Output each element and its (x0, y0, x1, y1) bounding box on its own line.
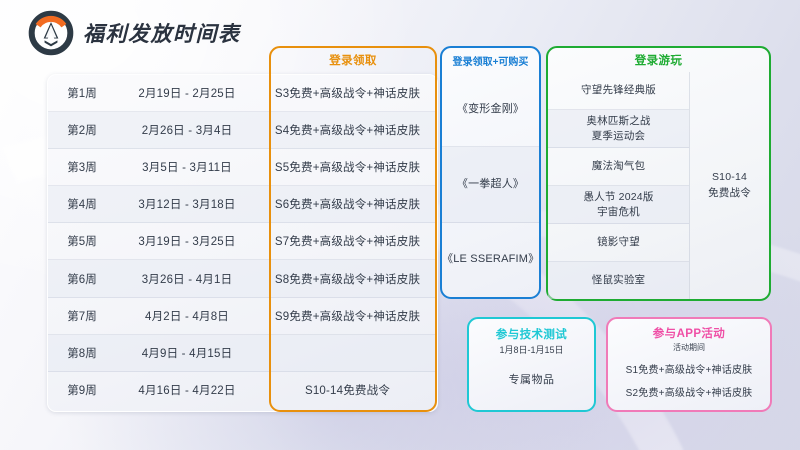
week-label: 第5周 (48, 233, 116, 249)
page-title: 福利发放时间表 (83, 18, 241, 48)
table-row: 第3周 3月5日 - 3月11日 S5免费+高级战令+神话皮肤 (48, 149, 437, 186)
app-activity-box: 参与APP活动 活动期间 S1免费+高级战令+神话皮肤 S2免费+高级战令+神话… (606, 317, 772, 412)
table-row: 第2周 2月26日 - 3月4日 S4免费+高级战令+神话皮肤 (48, 112, 437, 149)
table-row: 第1周 2月19日 - 2月25日 S3免费+高级战令+神话皮肤 (48, 75, 437, 112)
schedule-table: 第1周 2月19日 - 2月25日 S3免费+高级战令+神话皮肤 第2周 2月2… (47, 74, 438, 412)
reward-label: S3免费+高级战令+神话皮肤 (258, 85, 437, 101)
app-activity-subtitle: 活动期间 (608, 342, 770, 353)
table-row: 第9周 4月16日 - 4月22日 S10-14免费战令 (48, 372, 437, 409)
week-label: 第2周 (48, 122, 116, 138)
date-range: 2月19日 - 2月25日 (116, 85, 258, 101)
week-label: 第3周 (48, 159, 116, 175)
date-range: 4月2日 - 4月8日 (116, 308, 258, 324)
tech-test-title: 参与技术测试 (469, 326, 594, 342)
reward-label: S7免费+高级战令+神话皮肤 (258, 233, 437, 249)
tech-test-box: 参与技术测试 1月8日-1月15日 专属物品 (467, 317, 596, 412)
date-range: 4月16日 - 4月22日 (116, 382, 258, 398)
table-row: 第7周 4月2日 - 4月8日 S9免费+高级战令+神话皮肤 (48, 298, 437, 335)
reward-label: S10-14免费战令 (258, 382, 437, 398)
reward-label: S6免费+高级战令+神话皮肤 (258, 196, 437, 212)
table-row: 第4周 3月12日 - 3月18日 S6免费+高级战令+神话皮肤 (48, 186, 437, 223)
app-activity-line: S1免费+高级战令+神话皮肤 (608, 361, 770, 376)
tech-test-body: 专属物品 (469, 371, 594, 387)
week-label: 第8周 (48, 345, 116, 361)
reward-label: S5免费+高级战令+神话皮肤 (258, 159, 437, 175)
table-row: 第6周 3月26日 - 4月1日 S8免费+高级战令+神话皮肤 (48, 260, 437, 297)
app-activity-line: S2免费+高级战令+神话皮肤 (608, 384, 770, 399)
week-label: 第1周 (48, 85, 116, 101)
week-label: 第7周 (48, 308, 116, 324)
week-label: 第6周 (48, 271, 116, 287)
week-label: 第4周 (48, 196, 116, 212)
date-range: 3月12日 - 3月18日 (116, 196, 258, 212)
tech-test-subtitle: 1月8日-1月15日 (469, 343, 594, 356)
date-range: 3月5日 - 3月11日 (116, 159, 258, 175)
date-range: 4月9日 - 4月15日 (116, 345, 258, 361)
reward-label: S8免费+高级战令+神话皮肤 (258, 271, 437, 287)
table-row: 第5周 3月19日 - 3月25日 S7免费+高级战令+神话皮肤 (48, 223, 437, 260)
reward-label: S4免费+高级战令+神话皮肤 (258, 122, 437, 138)
overwatch-logo-icon (28, 10, 74, 56)
page-header: 福利发放时间表 (28, 10, 241, 56)
reward-label: S9免费+高级战令+神话皮肤 (258, 308, 437, 324)
date-range: 2月26日 - 3月4日 (116, 122, 258, 138)
week-label: 第9周 (48, 382, 116, 398)
date-range: 3月19日 - 3月25日 (116, 233, 258, 249)
date-range: 3月26日 - 4月1日 (116, 271, 258, 287)
table-row: 第8周 4月9日 - 4月15日 (48, 335, 437, 372)
app-activity-title: 参与APP活动 (608, 325, 770, 341)
